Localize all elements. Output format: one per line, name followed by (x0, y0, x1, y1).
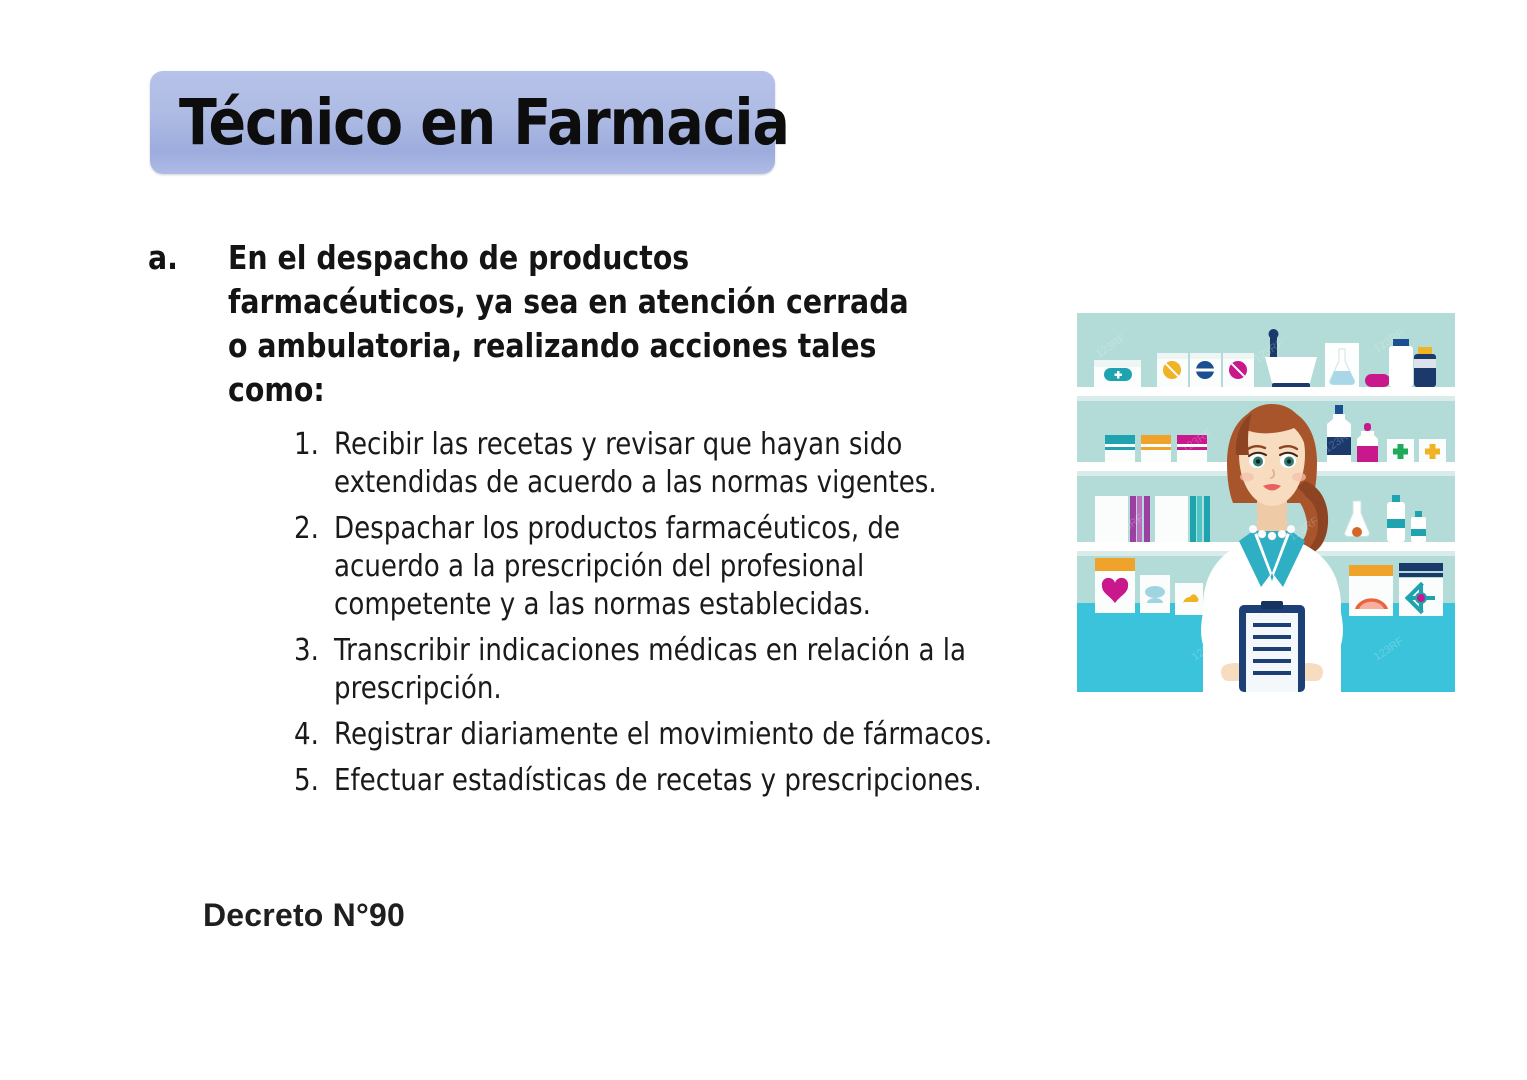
lead-paragraph: a. En el despacho de productos farmacéut… (148, 236, 1048, 412)
list-item: 3. Transcribir indicaciones médicas en r… (294, 632, 1114, 708)
list-item: 1. Recibir las recetas y revisar que hay… (294, 426, 1114, 502)
task-number: 3. (294, 632, 329, 670)
list-item: 2. Despachar los productos farmacéuticos… (294, 510, 1114, 624)
task-number: 5. (294, 762, 329, 800)
slide-content-block: a. En el despacho de productos farmacéut… (148, 236, 1048, 412)
task-text: Transcribir indicaciones médicas en rela… (334, 632, 1013, 708)
task-number: 4. (294, 716, 329, 754)
lead-text: En el despacho de productos farmacéutico… (228, 236, 933, 412)
list-item: 4. Registrar diariamente el movimiento d… (294, 716, 1114, 754)
decreto-footnote: Decreto N°90 (203, 897, 405, 934)
task-number: 1. (294, 426, 329, 464)
task-text: Recibir las recetas y revisar que hayan … (334, 426, 1013, 502)
task-list: 1. Recibir las recetas y revisar que hay… (294, 426, 1114, 808)
lead-marker: a. (148, 236, 217, 280)
task-number: 2. (294, 510, 329, 548)
list-item: 5. Efectuar estadísticas de recetas y pr… (294, 762, 1114, 800)
pharmacy-illustration: 123RF 123RF 123RF 123RF 123RF 123RF 123R… (1077, 313, 1455, 692)
slide-title-banner: Técnico en Farmacia (150, 71, 775, 174)
task-text: Despachar los productos farmacéuticos, d… (334, 510, 1013, 624)
slide-title: Técnico en Farmacia (150, 91, 789, 154)
task-text: Registrar diariamente el movimiento de f… (334, 716, 1013, 754)
task-text: Efectuar estadísticas de recetas y presc… (334, 762, 1013, 800)
